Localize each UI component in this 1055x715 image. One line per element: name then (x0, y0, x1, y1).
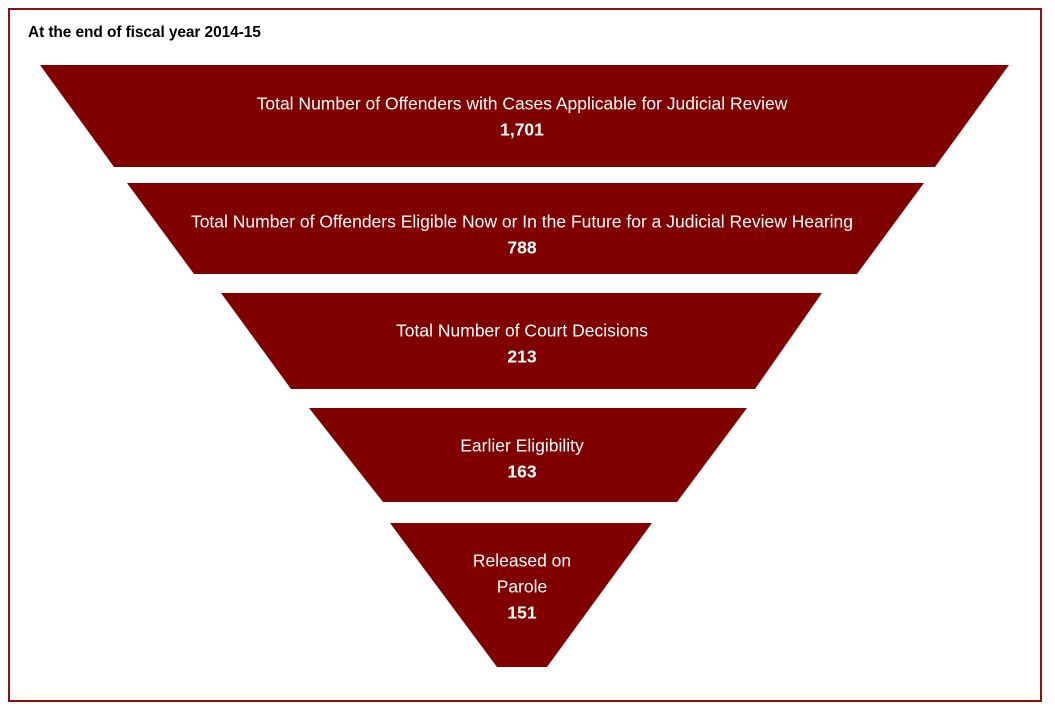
funnel-stage-2-value: 788 (507, 238, 536, 258)
funnel-stage-3-value: 213 (507, 347, 536, 367)
funnel-stage-5-label-line-1: Released on (473, 551, 571, 571)
funnel-stage-3[interactable]: Total Number of Court Decisions 213 (221, 293, 822, 389)
funnel-stage-3-shape (221, 293, 822, 389)
funnel-chart: Total Number of Offenders with Cases App… (10, 10, 1040, 700)
funnel-stage-3-label: Total Number of Court Decisions (396, 321, 648, 341)
funnel-stage-1-value: 1,701 (500, 120, 544, 140)
funnel-stage-4-value: 163 (507, 462, 536, 482)
funnel-stage-1[interactable]: Total Number of Offenders with Cases App… (40, 65, 1009, 167)
funnel-stage-5-label-line-2: Parole (497, 577, 548, 597)
funnel-stage-2[interactable]: Total Number of Offenders Eligible Now o… (127, 183, 924, 274)
funnel-stage-4-label: Earlier Eligibility (460, 436, 584, 456)
funnel-stage-5[interactable]: Released on Parole 151 (390, 523, 652, 667)
funnel-stage-1-label: Total Number of Offenders with Cases App… (257, 94, 788, 114)
funnel-stage-1-shape (40, 65, 1009, 167)
funnel-stage-2-label: Total Number of Offenders Eligible Now o… (191, 212, 853, 232)
funnel-stage-4[interactable]: Earlier Eligibility 163 (309, 408, 747, 502)
chart-frame: At the end of fiscal year 2014-15 Total … (8, 8, 1042, 702)
funnel-stage-5-value: 151 (507, 603, 536, 623)
